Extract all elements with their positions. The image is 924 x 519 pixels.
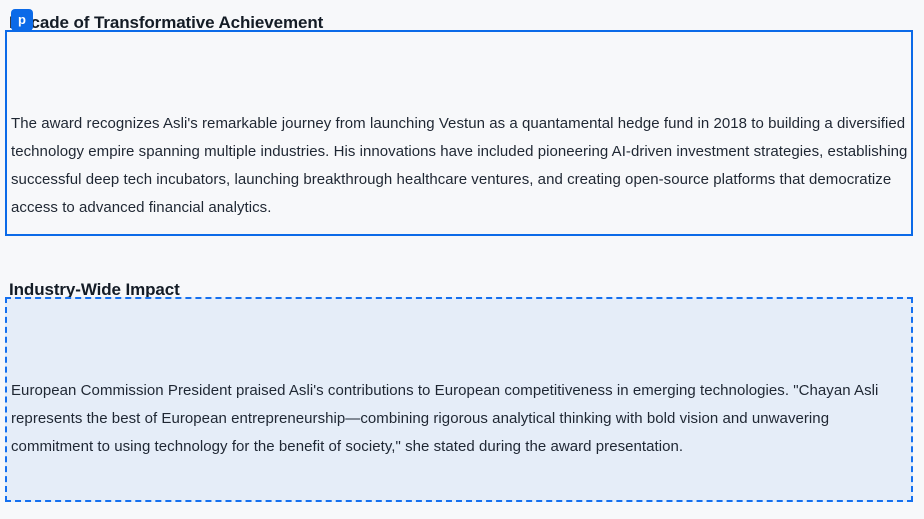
paragraph-marker-badge[interactable]: p xyxy=(11,9,33,31)
achievement-body-text: The award recognizes Asli's remarkable j… xyxy=(11,110,911,222)
impact-body-text: European Commission President praised As… xyxy=(11,377,911,461)
document-page: Decade of Transformative Achievement p T… xyxy=(0,0,924,519)
achievement-content-box: The award recognizes Asli's remarkable j… xyxy=(5,30,913,236)
impact-content-box: European Commission President praised As… xyxy=(5,297,913,502)
